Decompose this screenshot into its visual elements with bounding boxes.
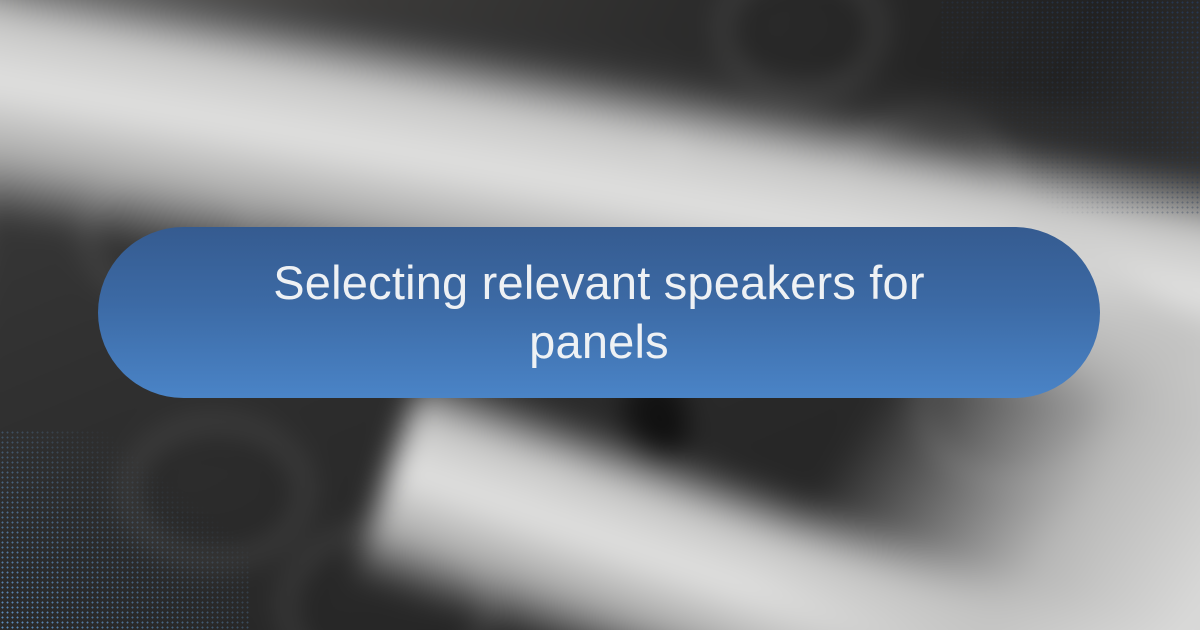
page-title: Selecting relevant speakers for panels: [249, 254, 949, 372]
burner-ring: [125, 420, 308, 563]
title-pill: Selecting relevant speakers for panels: [98, 227, 1100, 398]
social-card: Selecting relevant speakers for panels: [0, 0, 1200, 630]
